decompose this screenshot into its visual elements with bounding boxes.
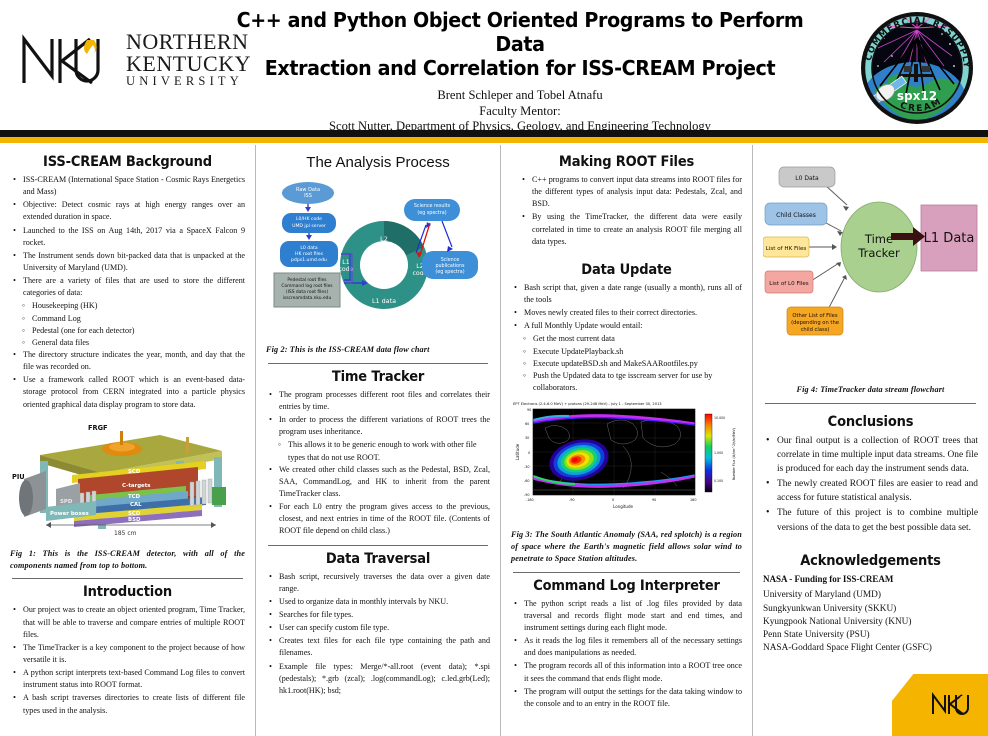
- background-sub-list: Housekeeping (HK) Command Log Pedestal (…: [21, 300, 245, 349]
- list-item: Launched to the ISS on Aug 14th, 2017 vi…: [12, 225, 245, 249]
- svg-text:(eg spectra): (eg spectra): [417, 210, 446, 216]
- section-heading-command-log-interpreter: Command Log Interpreter: [523, 578, 731, 594]
- header-divider-gold: [0, 137, 988, 143]
- detector-label-cal: CAL: [130, 502, 142, 508]
- figure-1: SCD C-targets TCD CAL SCD BSD SPD Power …: [10, 417, 245, 572]
- list-item: The program processes different root fil…: [268, 389, 490, 413]
- detector-label-tcd: TCD: [128, 494, 141, 500]
- column-2-divider-2: [268, 545, 488, 546]
- column-4: L0 Data Child Classes List of HK Files L…: [752, 145, 988, 736]
- figure-2-caption: Fig 2: This is the ISS-CREAM data flow c…: [266, 344, 490, 356]
- title-block: C++ and Python Object Oriented Programs …: [210, 8, 830, 134]
- iss-cream-detector-diagram-icon: SCD C-targets TCD CAL SCD BSD SPD Power …: [10, 417, 244, 539]
- dataupdate-bullet-list: Bash script that, given a date range (us…: [513, 282, 742, 333]
- flow4-node-center-line1: Time: [864, 232, 893, 246]
- flow-node-science-results: Science results: [414, 203, 451, 209]
- svg-text:-90: -90: [569, 498, 575, 502]
- list-item: This allows it to be generic enough to w…: [277, 439, 490, 463]
- list-item: University of Maryland (UMD): [763, 589, 978, 602]
- svg-text:ISS: ISS: [304, 193, 312, 199]
- list-item: A bash script traverses directories to c…: [12, 692, 245, 716]
- section-heading-analysis-process: The Analysis Process: [266, 154, 490, 171]
- svg-text:Command log root files: Command log root files: [281, 283, 333, 289]
- list-item: Sungkyunkwan University (SKKU): [763, 603, 978, 616]
- list-item: Bash script, recursively traverses the d…: [268, 571, 490, 595]
- mentor-label: Faculty Mentor:: [210, 104, 830, 119]
- detector-label-powerboxes: Power boxes: [50, 511, 89, 517]
- cmdlog-bullet-list: The python script reads a list of .log f…: [513, 598, 742, 710]
- svg-text:code: code: [339, 266, 354, 273]
- list-item: C++ programs to convert input data strea…: [521, 174, 742, 210]
- list-item: Example file types: Merge/*-all.root (ev…: [268, 661, 490, 697]
- authors: Brent Schleper and Tobel Atnafu: [210, 87, 830, 104]
- flow4-node-l0-files: List of L0 Files: [769, 281, 809, 287]
- list-item: NASA-Goddard Space Flight Center (GSFC): [763, 642, 978, 655]
- section-heading-making-root-files: Making ROOT Files: [523, 154, 731, 170]
- svg-text:1.000: 1.000: [714, 451, 723, 455]
- data-flow-chart-icon: L2 data L1 data L1 code L2 code Raw Data…: [266, 175, 490, 335]
- svg-text:-180: -180: [526, 498, 534, 502]
- crs-mission-patch-icon: COMMERCIAL RESUPPLY SERVICES CREAM spx12: [854, 4, 980, 128]
- detector-scale-label: 185 cm: [114, 530, 137, 537]
- column-1: ISS-CREAM Background ISS-CREAM (Internat…: [0, 145, 255, 736]
- list-item: Execute UpdatePlayback.sh: [522, 346, 742, 358]
- list-item: Kyungpook National University (KNU): [763, 616, 978, 629]
- list-item: In order to process the different variat…: [268, 414, 490, 438]
- list-item: For each L0 entry the program gives acce…: [268, 501, 490, 537]
- svg-text:child class): child class): [801, 327, 830, 333]
- list-item: General data files: [21, 337, 245, 349]
- svg-text:(depending on the: (depending on the: [791, 320, 839, 326]
- timetracker-bullet-list: The program processes different root fil…: [268, 389, 490, 439]
- list-item: NASA - Funding for ISS-CREAM: [763, 573, 978, 586]
- list-item: Command Log: [21, 313, 245, 325]
- svg-text:30: 30: [525, 436, 529, 440]
- svg-text:(eg spectra): (eg spectra): [435, 269, 464, 275]
- column-4-divider-1: [765, 403, 976, 404]
- dataupdate-sub-list: Get the most current data Execute Update…: [522, 333, 742, 394]
- svg-text:90: 90: [652, 498, 656, 502]
- list-item: Creates text files for each file type co…: [268, 635, 490, 659]
- svg-text:10.000: 10.000: [714, 416, 725, 420]
- timetracker-sub-list: This allows it to be generic enough to w…: [277, 439, 490, 463]
- list-item: The newly created ROOT files are easier …: [765, 477, 978, 505]
- list-item: Our project was to create an object orie…: [12, 604, 245, 640]
- page-title: C++ and Python Object Oriented Programs …: [232, 8, 809, 81]
- figure-3-colorbar-label: Number Flux (#/cm^2/s/sr/MeV): [732, 428, 736, 480]
- detector-label-frgf: FRGF: [88, 424, 108, 432]
- page-title-line2: Extraction and Correlation for ISS-CREAM…: [265, 56, 775, 80]
- column-3-divider: [513, 572, 740, 573]
- svg-text:180: 180: [690, 498, 696, 502]
- detector-label-piu: PIU: [12, 473, 25, 481]
- figure-2: L2 data L1 data L1 code L2 code Raw Data…: [266, 175, 490, 356]
- svg-text:0: 0: [612, 498, 614, 502]
- traversal-bullet-list: Bash script, recursively traverses the d…: [268, 571, 490, 697]
- svg-text:90: 90: [527, 408, 531, 412]
- introduction-bullet-list: Our project was to create an object orie…: [12, 604, 245, 716]
- list-item: Pedestal (one for each detector): [21, 325, 245, 337]
- list-item: Execute updateBSD.sh and MakeSAARootfile…: [522, 358, 742, 370]
- svg-text:0.100: 0.100: [714, 479, 723, 483]
- header-divider-black: [0, 130, 988, 137]
- flow4-node-output: L1 Data: [924, 231, 975, 246]
- flow-node-pedestal-files: Pedestal root files: [287, 277, 327, 283]
- list-item: There are a variety of files that are us…: [12, 275, 245, 299]
- svg-text:-30: -30: [524, 465, 530, 469]
- list-item: The Instrument sends down bit-packed dat…: [12, 250, 245, 274]
- column-2: The Analysis Process L2 data L1 data L1 …: [255, 145, 500, 736]
- list-item: Bash script that, given a date range (us…: [513, 282, 742, 306]
- list-item: A python script interprets text-based Co…: [12, 667, 245, 691]
- svg-text:data: data: [377, 242, 391, 250]
- list-item: The directory structure indicates the ye…: [12, 349, 245, 373]
- flow4-node-hk-files: List of HK Files: [766, 246, 807, 252]
- list-item: Moves newly created files to their corre…: [513, 307, 742, 319]
- svg-text:UMD jpl server: UMD jpl server: [292, 223, 326, 229]
- flow4-node-center-line2: Tracker: [857, 246, 900, 260]
- column-3: Making ROOT Files C++ programs to conver…: [500, 145, 752, 736]
- column-1-divider: [12, 578, 243, 579]
- list-item: As it reads the log files it remembers a…: [513, 635, 742, 659]
- figure-3-ylabel: Latitude: [515, 443, 520, 460]
- list-item: User can specify custom file type.: [268, 622, 490, 634]
- flow-node-l1-code: L1: [342, 259, 349, 266]
- figure-3-caption: Fig 3: The South Atlantic Anomaly (SAA, …: [511, 529, 742, 565]
- section-heading-data-traversal: Data Traversal: [277, 551, 479, 567]
- list-item: The python script reads a list of .log f…: [513, 598, 742, 634]
- list-item: The program records all of this informat…: [513, 660, 742, 684]
- svg-text:60: 60: [525, 422, 529, 426]
- list-item: We created other child classes such as t…: [268, 464, 490, 500]
- detector-label-scd: SCD: [128, 469, 141, 475]
- figure-3-plot-title: EPT Electrons (2.4-6.0 MeV) + protons (2…: [513, 402, 662, 406]
- poster-header: NORTHERN KENTUCKY UNIVERSITY C++ and Pyt…: [0, 0, 988, 130]
- list-item: Searches for file types.: [268, 609, 490, 621]
- svg-text:(ISS data root files): (ISS data root files): [286, 289, 328, 295]
- corner-accent: [892, 674, 988, 736]
- svg-text:-60: -60: [524, 479, 530, 483]
- conclusions-bullet-list: Our final output is a collection of ROOT…: [765, 434, 978, 535]
- page-title-line1: C++ and Python Object Oriented Programs …: [237, 8, 804, 56]
- section-heading-data-update: Data Update: [523, 262, 731, 278]
- detector-label-bsd: BSD: [128, 517, 141, 523]
- section-heading-conclusions: Conclusions: [774, 414, 968, 430]
- saa-flux-map-icon: EPT Electrons (2.4-6.0 MeV) + protons (2…: [511, 398, 743, 520]
- section-heading-time-tracker: Time Tracker: [277, 369, 479, 385]
- flow-node-l0hk-code: L0/HK code: [296, 216, 322, 222]
- list-item: Housekeeping (HK): [21, 300, 245, 312]
- list-item: ISS-CREAM (International Space Station -…: [12, 174, 245, 198]
- flow-node-l1-data: L1 data: [372, 297, 396, 305]
- svg-text:0: 0: [528, 451, 530, 455]
- svg-text:-90: -90: [524, 493, 530, 497]
- timetracker-stream-flowchart-icon: L0 Data Child Classes List of HK Files L…: [763, 157, 979, 375]
- list-item: Used to organize data in monthly interva…: [268, 596, 490, 608]
- list-item: By using the TimeTracker, the different …: [521, 211, 742, 247]
- nku-corner-logo-icon: [930, 691, 972, 722]
- list-item: Push the Updated data to tge isscream se…: [522, 370, 742, 394]
- patch-mission-label: spx12: [897, 89, 937, 103]
- flow-node-l0-data: L0 data: [300, 245, 317, 251]
- flow4-node-child-classes: Child Classes: [776, 212, 816, 219]
- section-heading-introduction: Introduction: [22, 584, 234, 600]
- list-item: Use a framework called ROOT which is an …: [12, 374, 245, 410]
- makingroot-bullet-list: C++ programs to convert input data strea…: [521, 174, 742, 248]
- poster-columns: ISS-CREAM Background ISS-CREAM (Internat…: [0, 145, 988, 736]
- figure-1-caption: Fig 1: This is the ISS-CREAM detector, w…: [10, 548, 245, 572]
- figure-3-xlabel: Longitude: [613, 504, 633, 509]
- background-bullet-list: ISS-CREAM (International Space Station -…: [12, 174, 245, 299]
- figure-3: EPT Electrons (2.4-6.0 MeV) + protons (2…: [511, 398, 742, 565]
- list-item: The program will output the settings for…: [513, 686, 742, 710]
- svg-text:HK root files: HK root files: [295, 251, 324, 257]
- flow-node-science-publications: Science: [441, 257, 460, 263]
- section-heading-acknowledgements: Acknowledgements: [774, 553, 968, 569]
- detector-label-ctargets: C-targets: [122, 483, 151, 489]
- list-item: Penn State University (PSU): [763, 629, 978, 642]
- background-bullet-list-2: The directory structure indicates the ye…: [12, 349, 245, 411]
- svg-text:isscreamdata.nku.edu: isscreamdata.nku.edu: [283, 295, 332, 301]
- acknowledgements-list: NASA - Funding for ISS-CREAM University …: [763, 573, 978, 656]
- nku-monogram-icon: [18, 30, 118, 88]
- section-heading-background: ISS-CREAM Background: [22, 154, 234, 170]
- list-item: The future of this project is to combine…: [765, 506, 978, 534]
- list-item: Our final output is a collection of ROOT…: [765, 434, 978, 476]
- svg-text:pdps1.umd.edu: pdps1.umd.edu: [291, 257, 327, 263]
- figure-4: L0 Data Child Classes List of HK Files L…: [763, 157, 978, 396]
- column-2-divider-1: [268, 363, 488, 364]
- figure-4-caption: Fig 4: TimeTracker data stream flowchart: [763, 384, 978, 396]
- list-item: Get the most current data: [522, 333, 742, 345]
- list-item: A full Monthly Update would entail:: [513, 320, 742, 332]
- list-item: The TimeTracker is a key component to th…: [12, 642, 245, 666]
- flow4-node-l0-data: L0 Data: [795, 175, 819, 182]
- svg-text:publications: publications: [435, 263, 465, 269]
- timetracker-bullet-list-2: We created other child classes such as t…: [268, 464, 490, 538]
- flow4-node-other-files: Other List of Files: [792, 313, 837, 319]
- list-item: Objective: Detect cosmic rays at high en…: [12, 199, 245, 223]
- poster-root: NORTHERN KENTUCKY UNIVERSITY C++ and Pyt…: [0, 0, 988, 736]
- detector-label-spd: SPD: [60, 499, 73, 505]
